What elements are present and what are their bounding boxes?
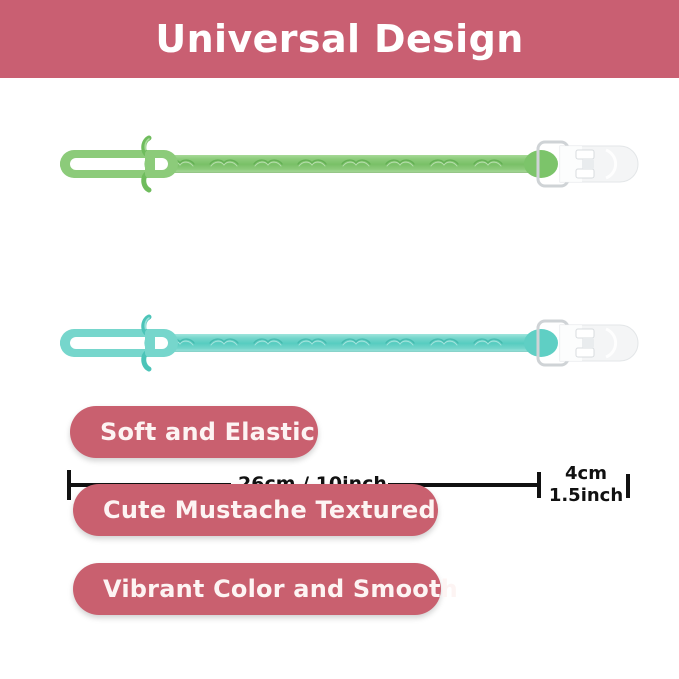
feature-pill-soft-and-elastic: Soft and Elastic bbox=[70, 406, 318, 458]
product-green-clip bbox=[0, 124, 679, 204]
measure-tick-middle bbox=[537, 472, 541, 498]
header-banner: Universal Design bbox=[0, 0, 679, 78]
mustache-stopper-icon-green bbox=[132, 134, 166, 194]
measure-tick-right bbox=[626, 474, 630, 498]
measure-clip-inch: 1.5inch bbox=[548, 485, 624, 507]
feature-pill-cute-mustache-textured: Cute Mustache Textured bbox=[73, 484, 438, 536]
mustache-stopper-icon-teal bbox=[132, 313, 166, 373]
pacifier-clip-teal bbox=[536, 311, 650, 375]
feature-pill-label: Vibrant Color and Smooth bbox=[103, 577, 458, 601]
page-title: Universal Design bbox=[155, 20, 523, 58]
pacifier-clip-green bbox=[536, 132, 650, 196]
feature-pill-vibrant-color-and-smooth: Vibrant Color and Smooth bbox=[73, 563, 441, 615]
feature-pill-label: Soft and Elastic bbox=[100, 420, 315, 444]
feature-pill-label: Cute Mustache Textured bbox=[103, 498, 436, 522]
measure-clip-cm: 4cm bbox=[548, 463, 624, 485]
product-teal-clip bbox=[0, 303, 679, 383]
measure-label-clip-length: 4cm 1.5inch bbox=[548, 463, 624, 507]
measurement-bar: 26cm / 10inch 4cm 1.5inch bbox=[0, 232, 679, 284]
infographic-page: Universal Design bbox=[0, 0, 679, 679]
